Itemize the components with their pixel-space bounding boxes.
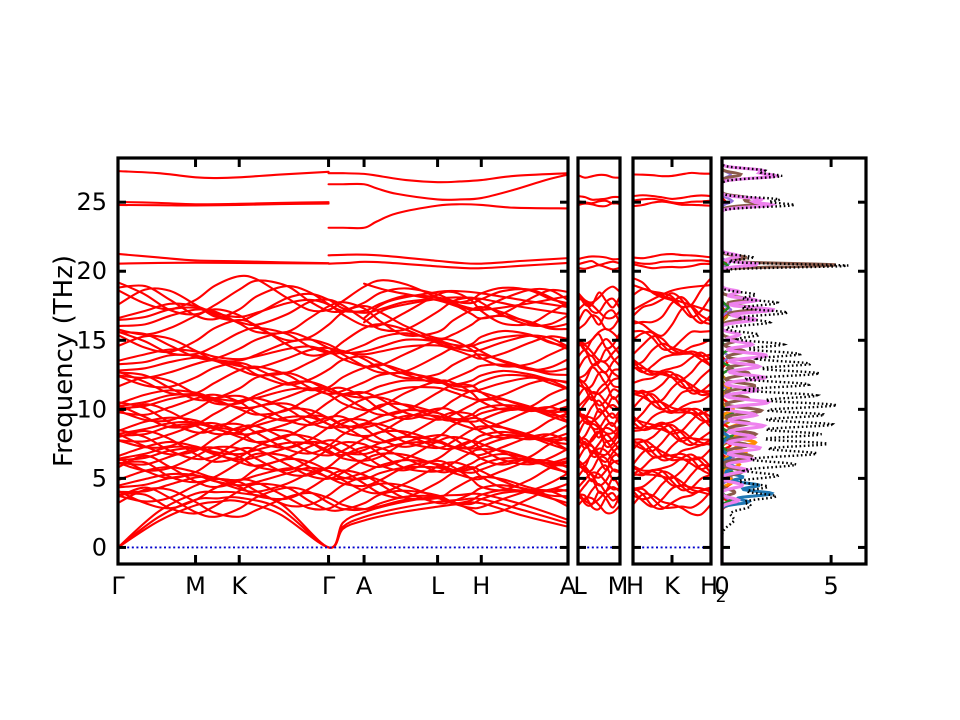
x-tick-label: Γ	[111, 572, 125, 600]
band-curve-panel-LM	[578, 196, 620, 200]
band-curve-high	[118, 254, 329, 263]
band-curve-high	[329, 175, 568, 200]
band-curve-panel-HKH	[633, 173, 711, 176]
band-curves-group	[118, 171, 711, 548]
x-tick-label-panel2-left: L	[573, 572, 587, 600]
x-tick-label-panel3: H	[626, 572, 644, 600]
y-tick-label: 0	[92, 533, 107, 561]
phonon-band-structure-figure: 0510152025Frequency (THz)ΓMKΓALHALMHKH20…	[0, 0, 960, 720]
y-tick-label: 20	[76, 257, 107, 285]
x-tick-label: Γ	[322, 572, 336, 600]
band-curve-optical	[118, 336, 568, 362]
plot-canvas: 0510152025Frequency (THz)ΓMKΓALHALMHKH20…	[0, 0, 960, 720]
y-axis-title: Frequency (THz)	[49, 255, 79, 467]
x-tick-label: A	[356, 572, 373, 600]
x-tick-label: H	[472, 572, 490, 600]
x-tick-label: M	[185, 572, 206, 600]
y-tick-label: 10	[76, 395, 107, 423]
band-curve-panel-HKH	[633, 254, 711, 258]
dos-x-tick-label: 5	[823, 572, 838, 600]
x-tick-label-panel3: K	[664, 572, 681, 600]
band-curve-panel-LM	[578, 261, 620, 265]
y-tick-label: 5	[92, 464, 107, 492]
band-curve-panel-LM	[578, 256, 620, 259]
y-tick-label: 25	[76, 188, 107, 216]
dos-x-tick-label: 0	[714, 572, 729, 600]
band-curve-panel-LM	[578, 175, 620, 178]
band-curve-high	[118, 171, 329, 178]
x-tick-label: K	[231, 572, 248, 600]
y-tick-label: 15	[76, 326, 107, 354]
band-curve-high	[329, 204, 568, 228]
x-tick-label: L	[431, 572, 445, 600]
band-curve-high	[329, 173, 568, 182]
